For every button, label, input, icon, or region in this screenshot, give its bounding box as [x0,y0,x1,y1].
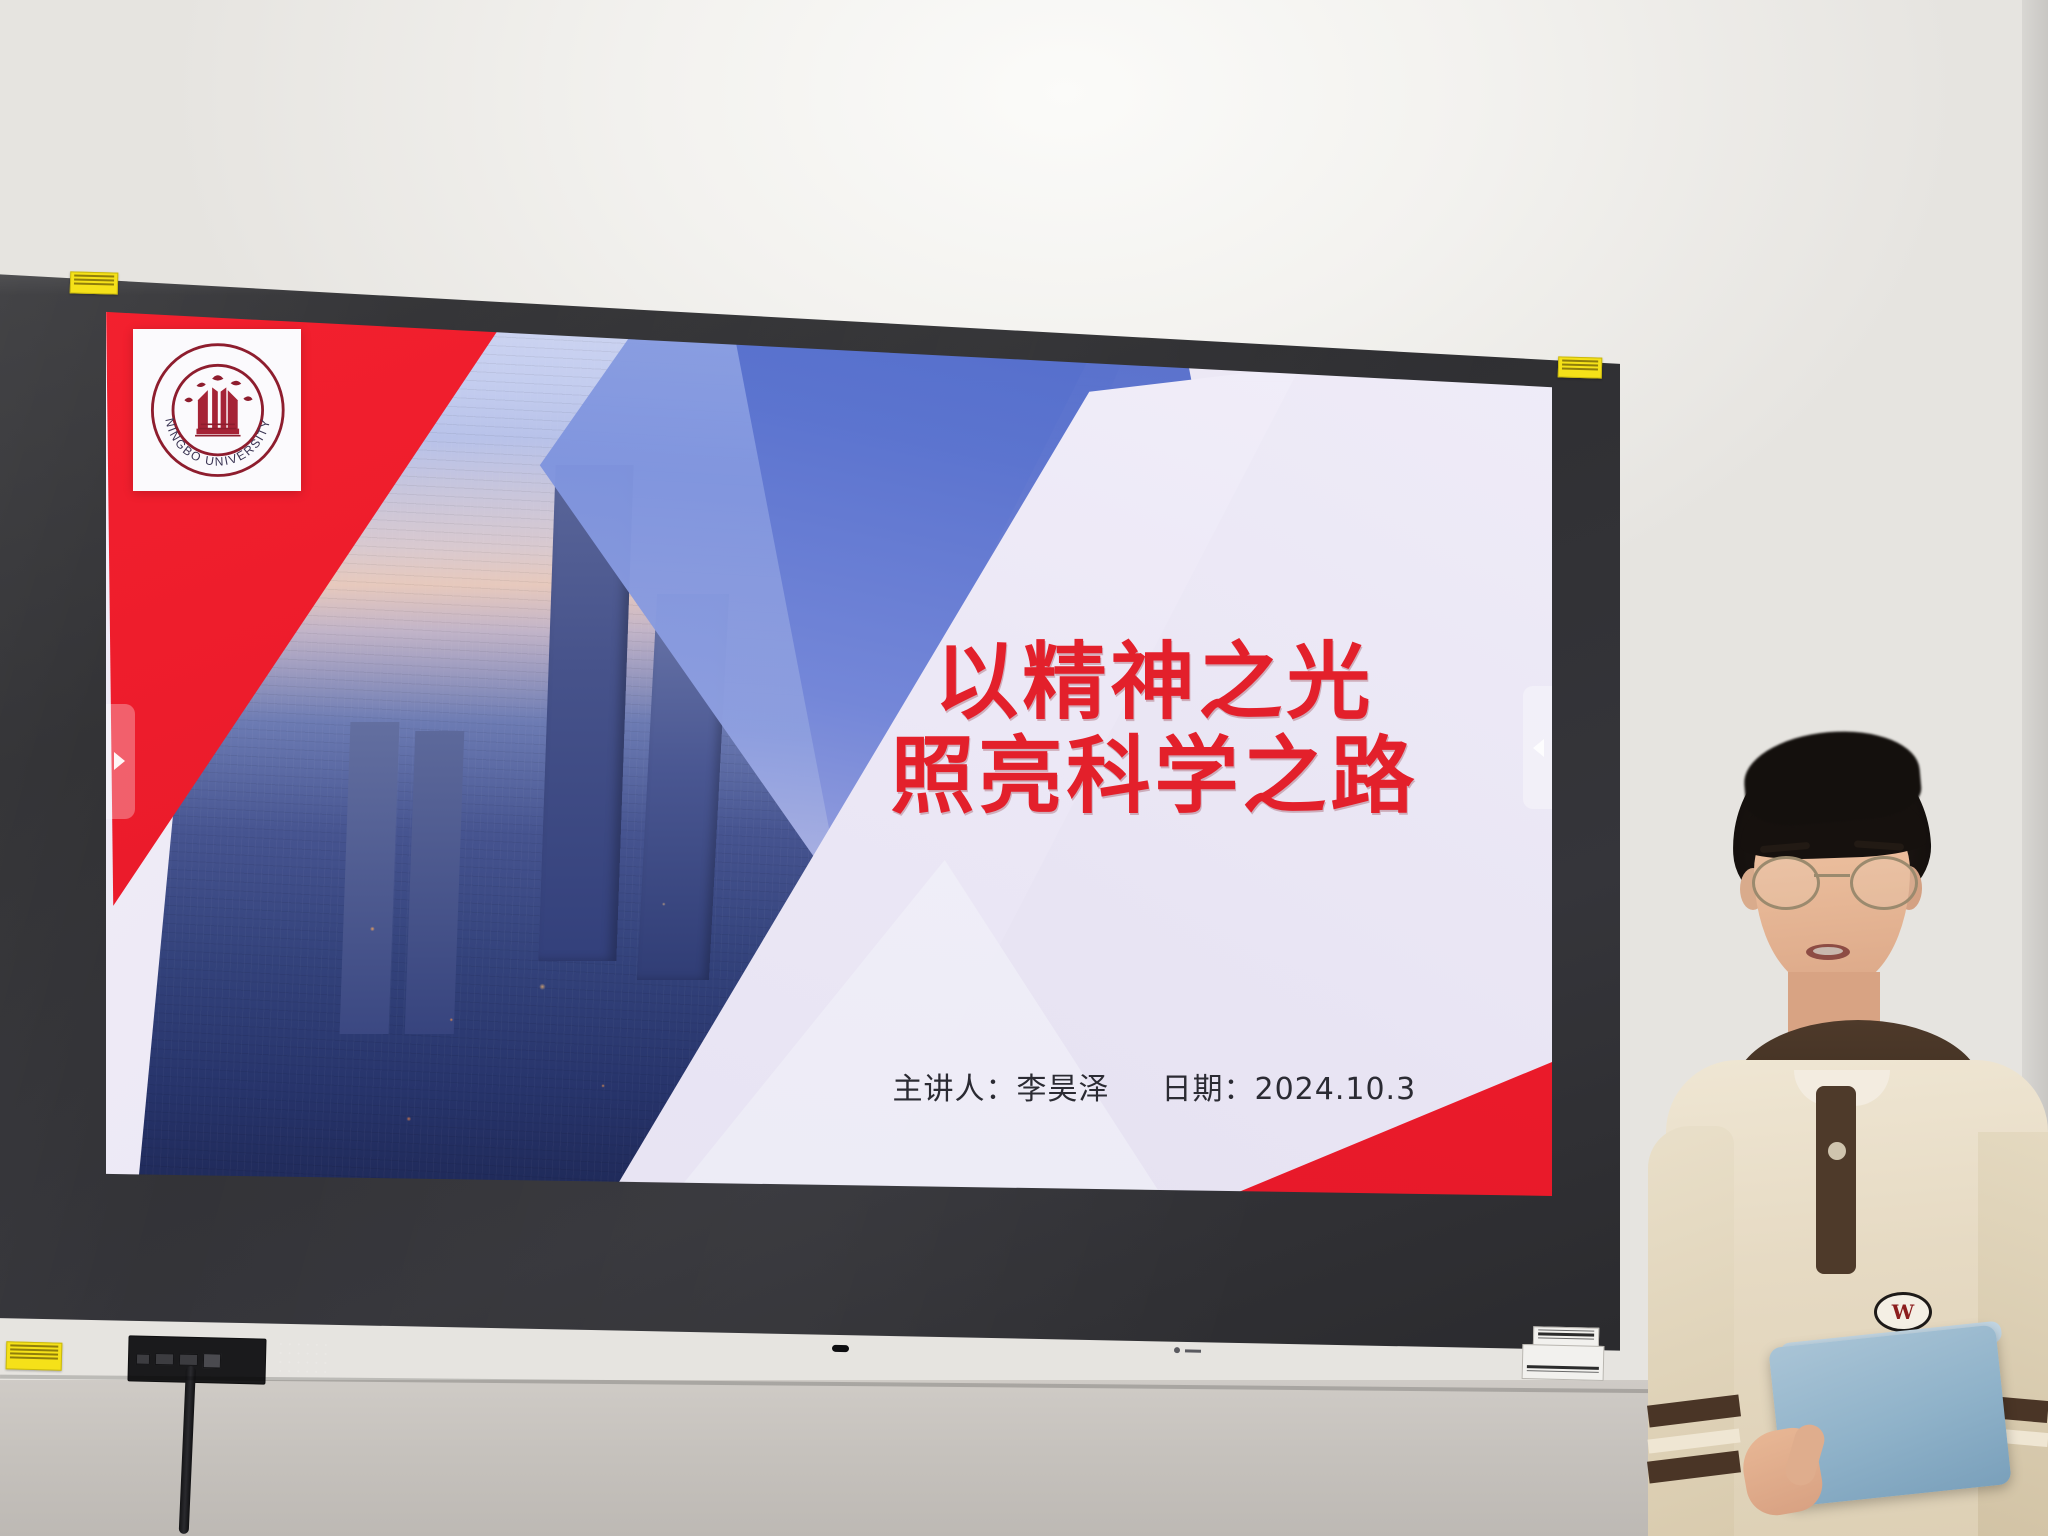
hoodie-button [1828,1142,1846,1160]
triangle-right-icon [114,752,125,770]
glasses-lens-left [1752,856,1820,910]
smart-board[interactable]: NINGBO UNIVERSITY 以精神之光 照亮科学之路 主讲人：李昊泽 日… [0,262,1620,1382]
speaker-label: 主讲人：李昊泽 [893,1064,1110,1108]
glasses-icon [1748,856,1920,904]
menu-icon [1185,1349,1201,1352]
slide-meta-row: 主讲人：李昊泽 日期：2024.10.3 [793,1064,1516,1108]
teeth [1813,947,1843,955]
slide-title: 以精神之光 照亮科学之路 [793,635,1516,823]
warning-sticker-top-left [70,271,119,294]
right-toolbar-tab[interactable] [1523,686,1552,810]
date-label: 日期：2024.10.3 [1162,1064,1417,1108]
slide-title-line-1: 以精神之光 [793,635,1516,729]
glasses-lens-right [1850,856,1918,910]
warning-sticker-bottom-left [6,1341,63,1371]
speaker-vent [276,1339,329,1376]
slide-title-line-2: 照亮科学之路 [793,729,1516,823]
hoodie-patch: W [1874,1292,1932,1332]
ir-receiver [832,1345,849,1352]
warning-sticker-top-right [1558,356,1603,378]
audio-port-icon [136,1353,150,1364]
lan-port-icon [203,1353,221,1368]
slide-canvas: NINGBO UNIVERSITY 以精神之光 照亮科学之路 主讲人：李昊泽 日… [106,300,1552,1218]
left-toolbar-tab[interactable] [106,704,135,819]
classroom-scene: NINGBO UNIVERSITY 以精神之光 照亮科学之路 主讲人：李昊泽 日… [0,0,2048,1536]
hoodie-placket [1816,1086,1856,1274]
presenter: W [1648,740,2048,1536]
power-indicator-icon [1174,1347,1180,1353]
usb-port-icon [155,1353,174,1365]
asset-tag-lower [1522,1344,1605,1381]
university-logo-plaque: NINGBO UNIVERSITY [133,329,301,491]
usb-port-icon [179,1354,198,1366]
glasses-bridge [1814,874,1850,877]
triangle-left-icon [1533,739,1544,757]
slide-screen[interactable]: NINGBO UNIVERSITY 以精神之光 照亮科学之路 主讲人：李昊泽 日… [106,300,1552,1218]
bezel-control-pad[interactable] [1174,1337,1249,1365]
ningbo-university-logo-icon: NINGBO UNIVERSITY [144,339,292,481]
